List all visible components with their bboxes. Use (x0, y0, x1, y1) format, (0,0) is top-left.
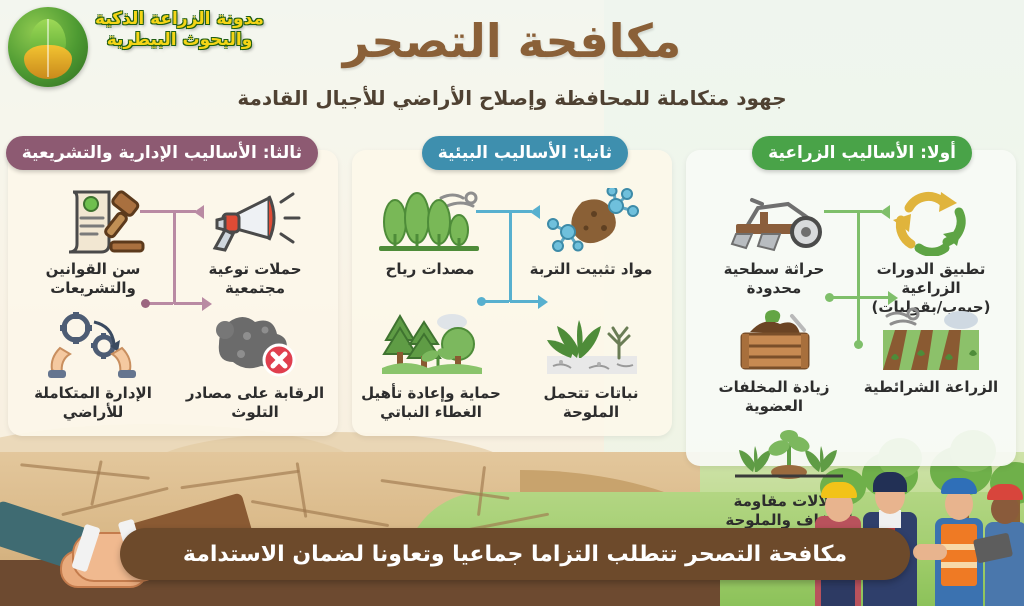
item-label: زيادة المخلفات العضوية (704, 378, 844, 416)
item-label: حراثة سطحية محدودة (704, 260, 844, 298)
column-badge-environmental: ثانيا: الأساليب البيئية (422, 136, 628, 170)
bottom-banner: مكافحة التصحر تتطلب التزاما جماعيا وتعاو… (120, 528, 910, 580)
item-label: حملات توعية مجتمعية (184, 260, 326, 298)
strip-farming-icon (856, 302, 1006, 374)
item-legislation[interactable]: سن القوانين والتشريعات (18, 184, 168, 298)
item-label: الرقابة على مصادر التلوث (184, 384, 326, 422)
infographic-canvas: مدونة الزراعة الذكية والبحوث البيطرية مك… (0, 0, 1024, 606)
salt-tolerant-plants-icon (520, 308, 662, 380)
connector-line (485, 300, 509, 303)
item-label: حماية وإعادة تأهيل الغطاء النباتي (358, 384, 504, 422)
vegetation-rehab-icon (358, 308, 504, 380)
integrated-land-management-icon (18, 308, 168, 380)
item-label: الزراعة الشرائطية (856, 378, 1006, 397)
soil-stabilizer-icon (520, 184, 662, 256)
item-shallow-tillage[interactable]: حراثة سطحية محدودة (704, 184, 844, 298)
compost-bin-icon (704, 302, 844, 374)
banner-text: مكافحة التصحر تتطلب التزاما جماعيا وتعاو… (183, 542, 847, 567)
item-vegetation-rehab[interactable]: حماية وإعادة تأهيل الغطاء النباتي (358, 308, 504, 422)
vest-stripe (941, 562, 977, 568)
law-gavel-scroll-icon (18, 184, 168, 256)
item-crop-rotation[interactable]: تطبيق الدورات الزراعية (حبوب/بقوليات) (856, 184, 1006, 316)
item-label: نباتات تتحمل الملوحة (520, 384, 662, 422)
helmet-icon (941, 478, 977, 494)
helmet-icon (987, 484, 1023, 500)
item-strip-farming[interactable]: الزراعة الشرائطية (856, 302, 1006, 397)
connector-line (174, 302, 202, 305)
column-badge-agricultural: أولا: الأساليب الزراعية (752, 136, 972, 170)
item-pollution-control[interactable]: الرقابة على مصادر التلوث (184, 308, 326, 422)
item-salt-tolerant-plants[interactable]: نباتات تتحمل الملوحة (520, 308, 662, 422)
hardhat-icon (821, 482, 857, 498)
connector-line (173, 210, 176, 304)
person-hair (873, 472, 907, 492)
page-subtitle: جهود متكاملة للمحافظة وإصلاح الأراضي للأ… (0, 86, 1024, 110)
item-awareness-campaigns[interactable]: حملات توعية مجتمعية (184, 184, 326, 298)
page-title: مكافحة التصحر (0, 14, 1024, 68)
connector-line (510, 300, 538, 303)
connector-line (149, 302, 173, 305)
connector-line (509, 210, 512, 302)
columns-area: أولا: الأساليب الزراعية (0, 136, 1024, 466)
windbreak-trees-icon (360, 184, 500, 256)
connector-dot (141, 299, 150, 308)
connector-arrow (538, 295, 548, 309)
column-badge-administrative: ثالثا: الأساليب الإدارية والتشريعية (6, 136, 318, 170)
plow-icon (704, 184, 844, 256)
item-windbreaks[interactable]: مصدات رياح (360, 184, 500, 279)
handshake-hands (913, 544, 947, 560)
pollution-control-icon (184, 308, 326, 380)
team-people-illustration (809, 440, 1024, 606)
megaphone-icon (184, 184, 326, 256)
item-label: سن القوانين والتشريعات (18, 260, 168, 298)
crop-rotation-icon (856, 184, 1006, 256)
item-soil-stabilizers[interactable]: مواد تثبيت التربة (520, 184, 662, 279)
item-organic-matter[interactable]: زيادة المخلفات العضوية (704, 302, 844, 416)
item-integrated-land-management[interactable]: الإدارة المتكاملة للأراضي (18, 308, 168, 422)
connector-dot (477, 297, 486, 306)
item-label: الإدارة المتكاملة للأراضي (18, 384, 168, 422)
item-label: مواد تثبيت التربة (520, 260, 662, 279)
item-label: مصدات رياح (360, 260, 500, 279)
